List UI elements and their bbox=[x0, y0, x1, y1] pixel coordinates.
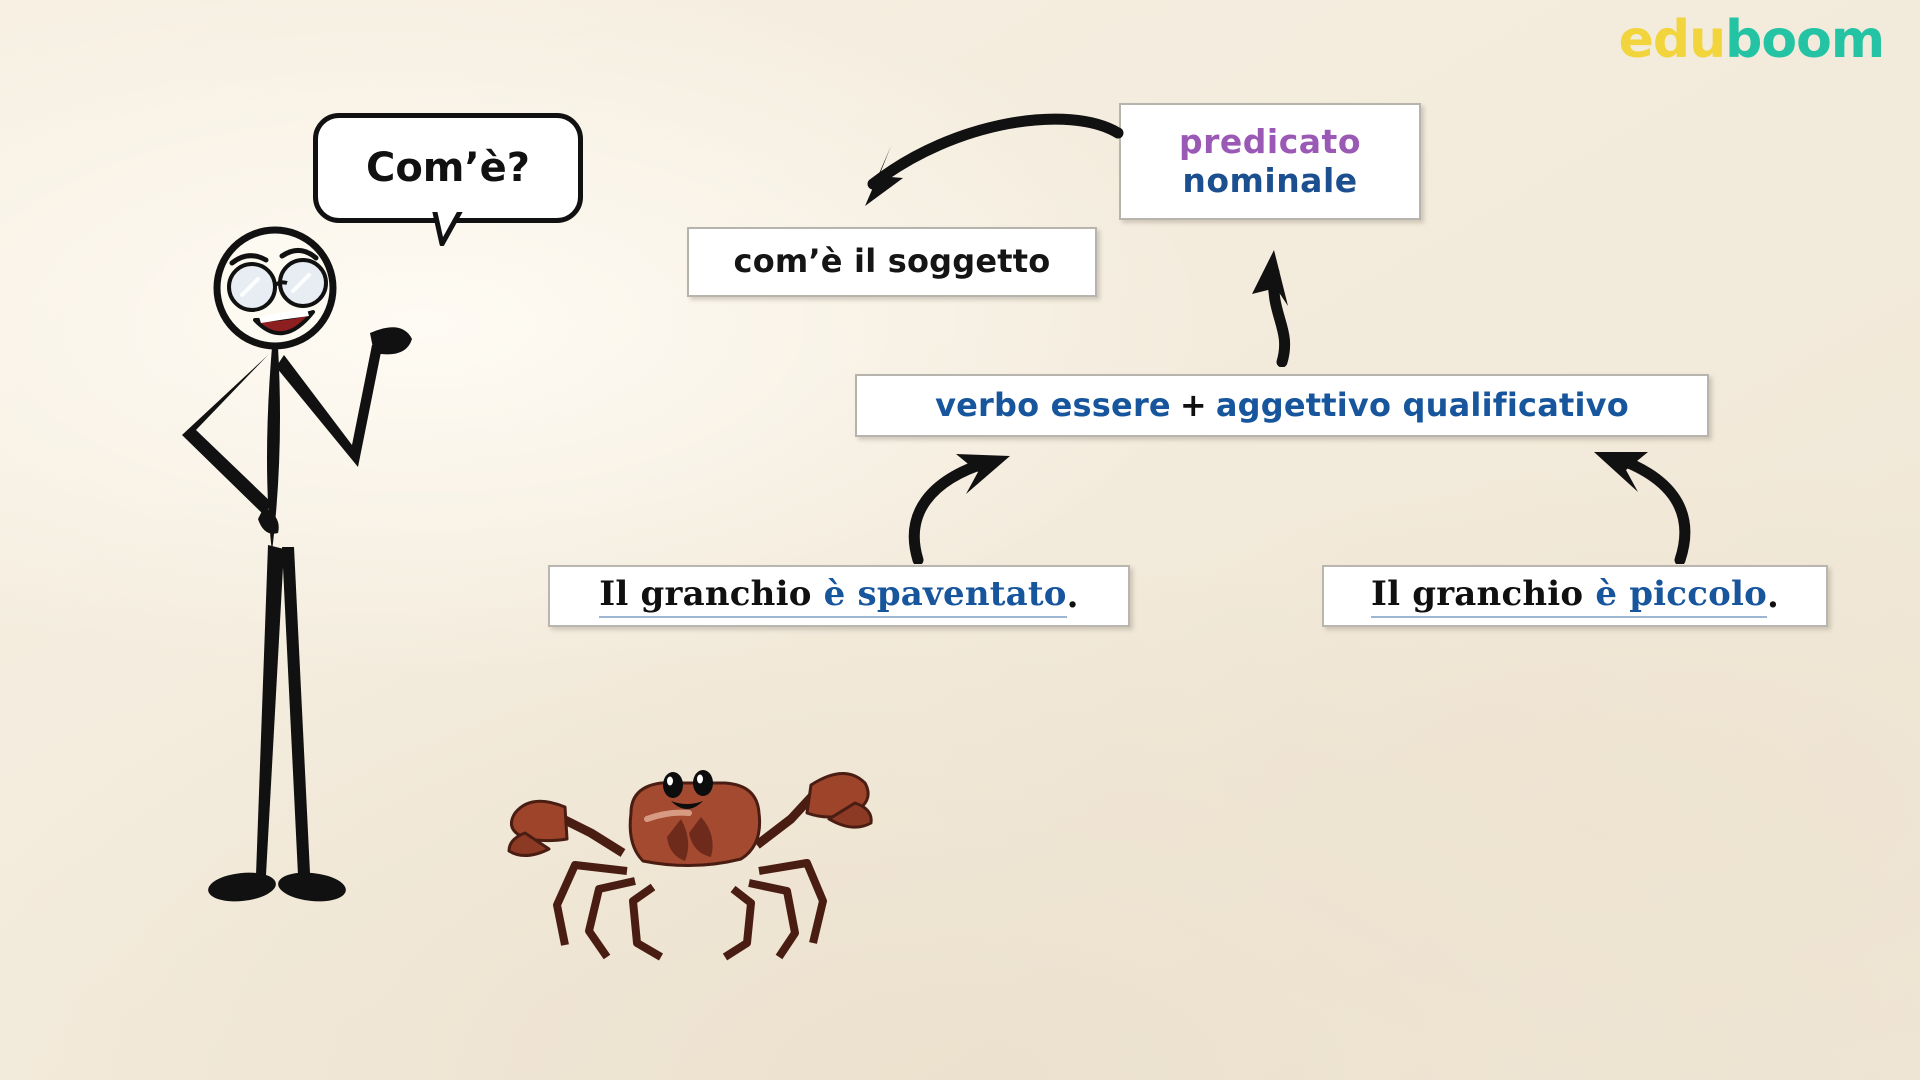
example-sentence-right: Il granchio è piccolo. bbox=[1322, 565, 1828, 627]
example-sentence-left: Il granchio è spaventato. bbox=[548, 565, 1130, 627]
label-verbo-essere: verbo essere bbox=[935, 387, 1171, 425]
example-left-subject: Il granchio bbox=[599, 574, 811, 614]
example-left-predicate: è spaventato bbox=[824, 574, 1067, 614]
example-right-predicate: è piccolo bbox=[1595, 574, 1767, 614]
box-predicato-nominale: predicato nominale bbox=[1119, 103, 1421, 220]
eduboom-logo: eduboom bbox=[1619, 10, 1884, 70]
speech-bubble-text: Com’è? bbox=[366, 145, 530, 191]
label-nominale: nominale bbox=[1182, 162, 1357, 201]
label-predicato: predicato bbox=[1179, 123, 1361, 162]
example-right-subject: Il granchio bbox=[1371, 574, 1583, 614]
speech-bubble: Com’è? bbox=[313, 113, 583, 223]
box-formula-verbo-aggettivo: verbo essere + aggettivo qualificativo bbox=[855, 374, 1709, 437]
label-aggettivo-qualificativo: aggettivo qualificativo bbox=[1216, 387, 1629, 425]
label-come-il-soggetto: com’è il soggetto bbox=[734, 243, 1051, 281]
logo-text-edu: edu bbox=[1619, 10, 1726, 70]
example-left-period: . bbox=[1067, 576, 1079, 616]
background-texture bbox=[0, 0, 1920, 1080]
box-come-il-soggetto: com’è il soggetto bbox=[687, 227, 1097, 297]
label-plus-operator: + bbox=[1180, 387, 1207, 425]
example-right-period: . bbox=[1767, 576, 1779, 616]
logo-text-boom: boom bbox=[1725, 10, 1884, 70]
